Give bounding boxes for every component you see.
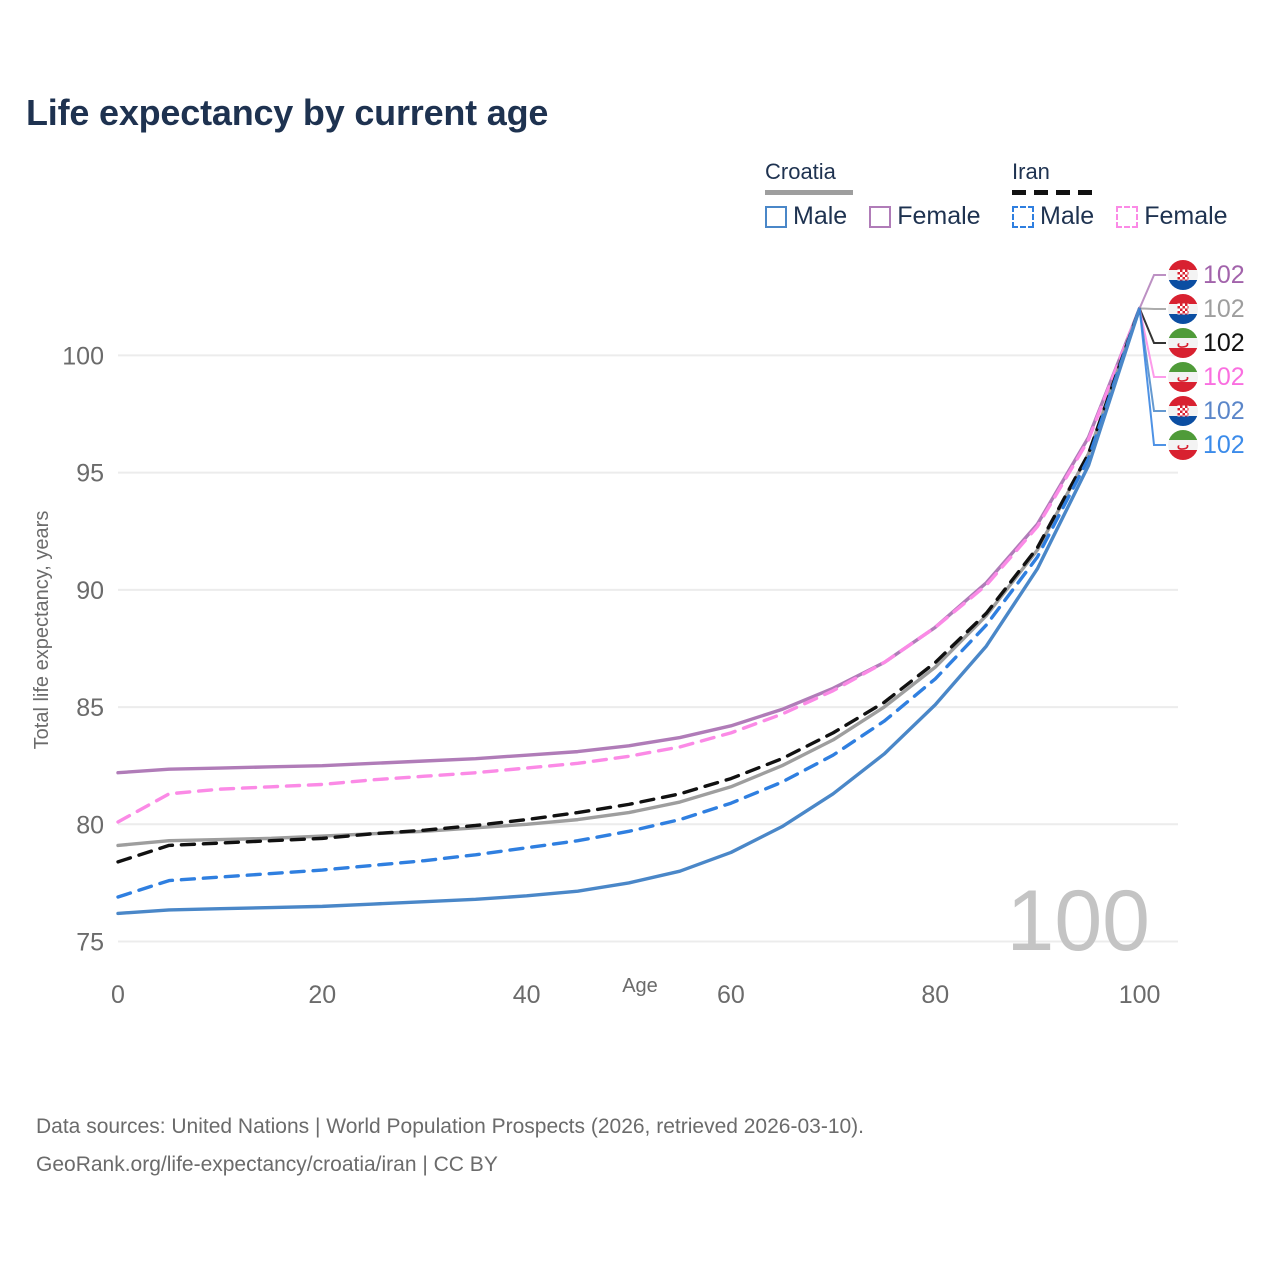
legend-label-iran-male: Male [1040, 204, 1094, 229]
legend-group-croatia: Croatia Male Female [765, 160, 981, 229]
legend-item-croatia-female[interactable]: Female [869, 204, 980, 229]
legend-item-croatia-male[interactable]: Male [765, 204, 847, 229]
y-tick-labels: 7580859095100 [62, 342, 104, 956]
legend-country-croatia: Croatia [765, 160, 981, 186]
series-lines [118, 308, 1140, 913]
end-label-croatia-male: 102 [1168, 394, 1280, 428]
legend-country-iran: Iran [1012, 160, 1228, 186]
legend-item-iran-female[interactable]: Female [1116, 204, 1227, 229]
end-label-croatia-total: 102 [1168, 292, 1280, 326]
iran-flag-icon: ب [1168, 362, 1198, 392]
svg-text:20: 20 [308, 981, 336, 1009]
end-label-value: 102 [1203, 399, 1245, 424]
chart-plot-area: 7580859095100 020406080100 100 Age Total… [0, 250, 1280, 1010]
svg-text:85: 85 [76, 694, 104, 722]
footer: Data sources: United Nations | World Pop… [36, 1108, 864, 1184]
svg-text:80: 80 [921, 981, 949, 1009]
legend-swatch-croatia-male [765, 206, 787, 228]
series-end-labels: 102102ب102ب102102ب102 [1168, 258, 1280, 462]
legend-label-iran-female: Female [1144, 204, 1227, 229]
end-label-croatia-female: 102 [1168, 258, 1280, 292]
watermark-value: 100 [1007, 873, 1151, 969]
chart-legend: Croatia Male Female Iran Male [760, 160, 1260, 240]
gridlines [118, 355, 1178, 941]
legend-swatch-croatia-female [869, 206, 891, 228]
legend-swatch-iran-female [1116, 206, 1138, 228]
footer-line-attribution: GeoRank.org/life-expectancy/croatia/iran… [36, 1146, 864, 1184]
svg-text:80: 80 [76, 811, 104, 839]
svg-text:95: 95 [76, 460, 104, 488]
legend-group-iran: Iran Male Female [1012, 160, 1228, 229]
leader-lines [1140, 275, 1166, 445]
series-line-iran-total [118, 308, 1140, 861]
svg-text:100: 100 [62, 342, 104, 370]
end-label-iran-male: ب102 [1168, 428, 1280, 462]
svg-text:40: 40 [513, 981, 541, 1009]
footer-line-sources: Data sources: United Nations | World Pop… [36, 1108, 864, 1146]
end-label-value: 102 [1203, 433, 1245, 458]
svg-text:90: 90 [76, 577, 104, 605]
svg-text:100: 100 [1119, 981, 1161, 1009]
svg-text:60: 60 [717, 981, 745, 1009]
series-line-croatia-female [118, 308, 1140, 772]
legend-swatch-iran-male [1012, 206, 1034, 228]
legend-item-iran-male[interactable]: Male [1012, 204, 1094, 229]
croatia-flag-icon [1168, 260, 1198, 290]
x-axis-label: Age [622, 975, 658, 997]
y-axis-label: Total life expectancy, years [31, 511, 53, 750]
page-title: Life expectancy by current age [26, 92, 548, 134]
legend-label-croatia-male: Male [793, 204, 847, 229]
croatia-flag-icon [1168, 396, 1198, 426]
line-chart: 7580859095100 020406080100 100 Age Total… [0, 250, 1280, 1010]
leader-line-croatia-female [1140, 275, 1166, 308]
iran-flag-icon: ب [1168, 430, 1198, 460]
end-label-value: 102 [1203, 365, 1245, 390]
legend-label-croatia-female: Female [897, 204, 980, 229]
legend-rule-croatia [765, 190, 853, 195]
series-line-croatia-total [118, 308, 1140, 845]
end-label-value: 102 [1203, 331, 1245, 356]
series-line-iran-male [118, 308, 1140, 897]
svg-text:75: 75 [76, 929, 104, 957]
leader-line-croatia-total [1140, 308, 1166, 309]
end-label-value: 102 [1203, 263, 1245, 288]
end-label-value: 102 [1203, 297, 1245, 322]
croatia-flag-icon [1168, 294, 1198, 324]
iran-flag-icon: ب [1168, 328, 1198, 358]
end-label-iran-total: ب102 [1168, 326, 1280, 360]
legend-rule-iran [1012, 190, 1100, 195]
end-label-iran-female: ب102 [1168, 360, 1280, 394]
svg-text:0: 0 [111, 981, 125, 1009]
